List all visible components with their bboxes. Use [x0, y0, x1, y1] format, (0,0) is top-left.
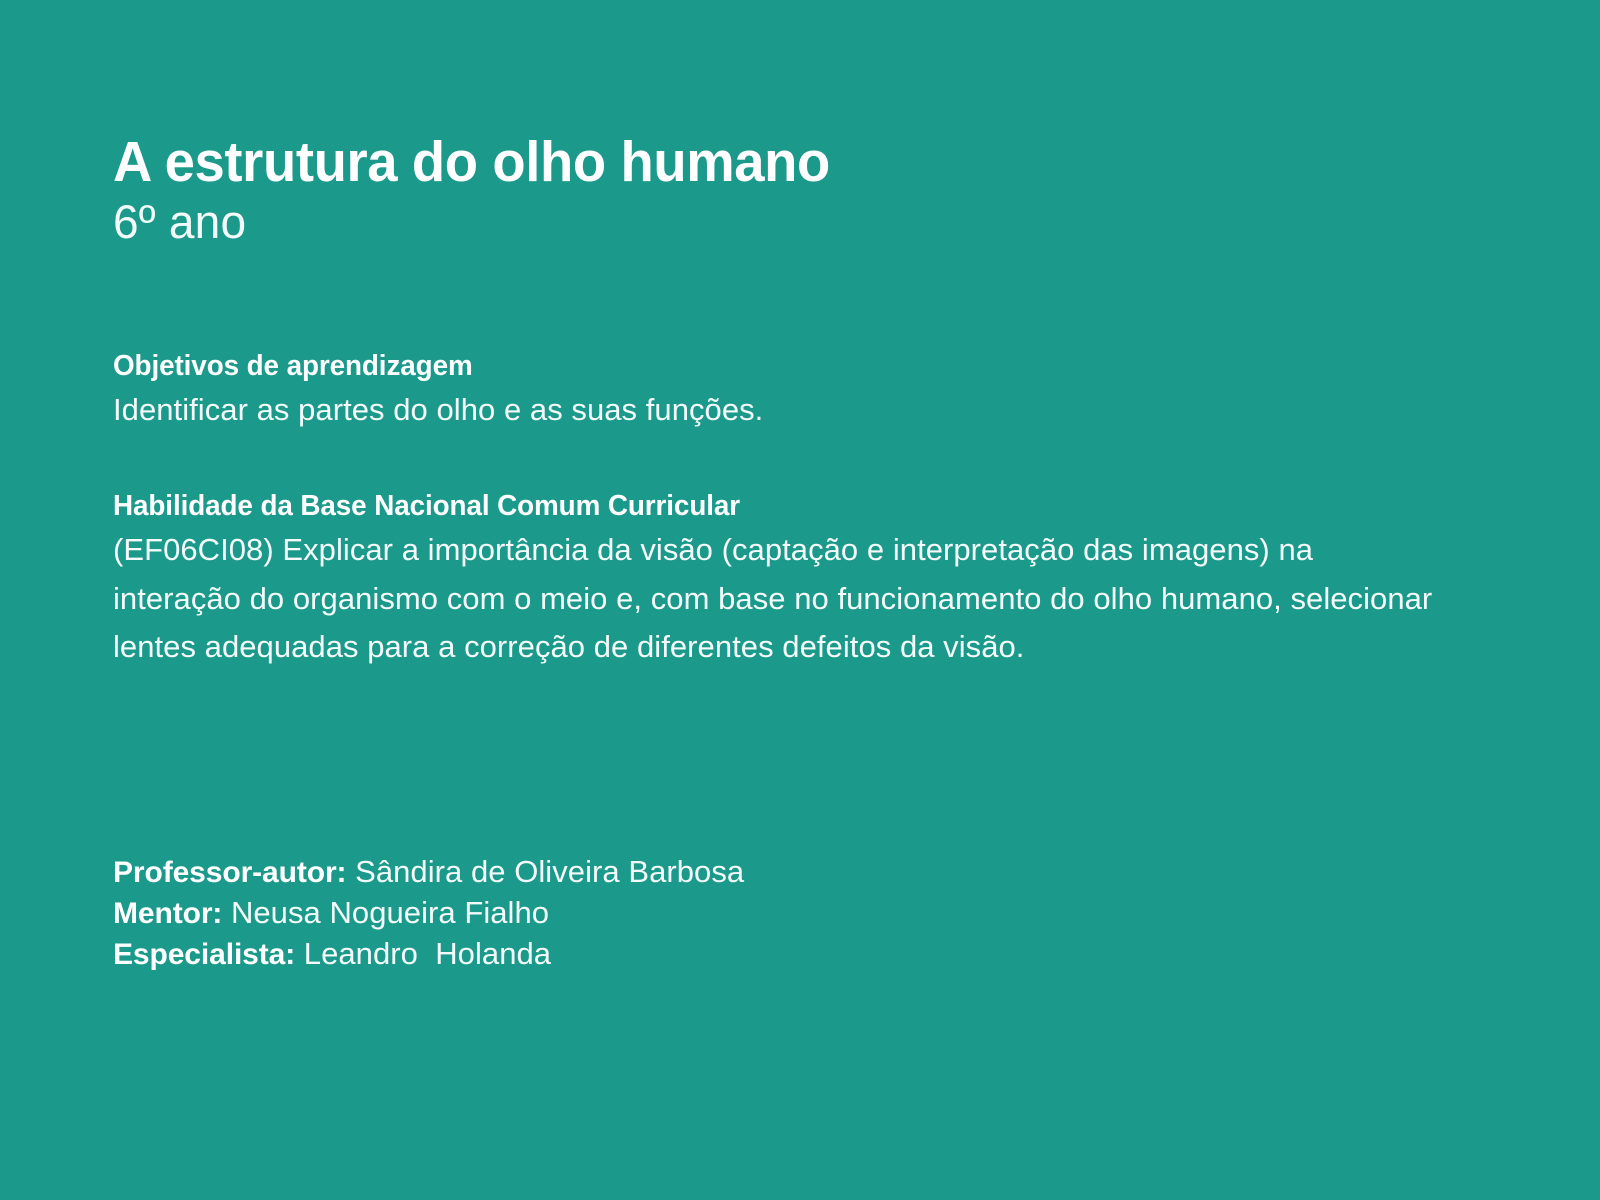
credit-label-mentor: Mentor:: [113, 897, 222, 930]
credit-line-professor-autor: Professor-autor: Sândira de Oliveira Bar…: [113, 852, 1313, 893]
page-subtitle: 6º ano: [113, 196, 1460, 248]
credit-line-mentor: Mentor: Neusa Nogueira Fialho: [113, 893, 1313, 934]
credit-label-especialista: Especialista:: [113, 938, 295, 971]
title-block: A estrutura do olho humano 6º ano: [113, 132, 1487, 248]
section-habilidade: Habilidade da Base Nacional Comum Curric…: [113, 489, 1453, 671]
credit-label-professor-autor: Professor-autor:: [113, 856, 346, 889]
section-heading-objetivos: Objetivos de aprendizagem: [113, 349, 1399, 384]
section-body-objetivos: Identificar as partes do olho e as suas …: [113, 386, 1453, 434]
section-objetivos: Objetivos de aprendizagem Identificar as…: [113, 349, 1453, 435]
slide-root: A estrutura do olho humano 6º ano Objeti…: [0, 0, 1600, 1200]
page-title: A estrutura do olho humano: [113, 132, 1425, 192]
credits-block: Professor-autor: Sândira de Oliveira Bar…: [113, 852, 1313, 975]
credit-line-especialista: Especialista: Leandro Holanda: [113, 934, 1313, 975]
credit-value-mentor: Neusa Nogueira Fialho: [222, 895, 549, 930]
credit-value-especialista: Leandro Holanda: [295, 936, 551, 971]
credit-value-professor-autor: Sândira de Oliveira Barbosa: [346, 854, 744, 889]
section-body-habilidade: (EF06CI08) Explicar a importância da vis…: [113, 526, 1443, 671]
section-heading-habilidade: Habilidade da Base Nacional Comum Curric…: [113, 489, 1399, 524]
